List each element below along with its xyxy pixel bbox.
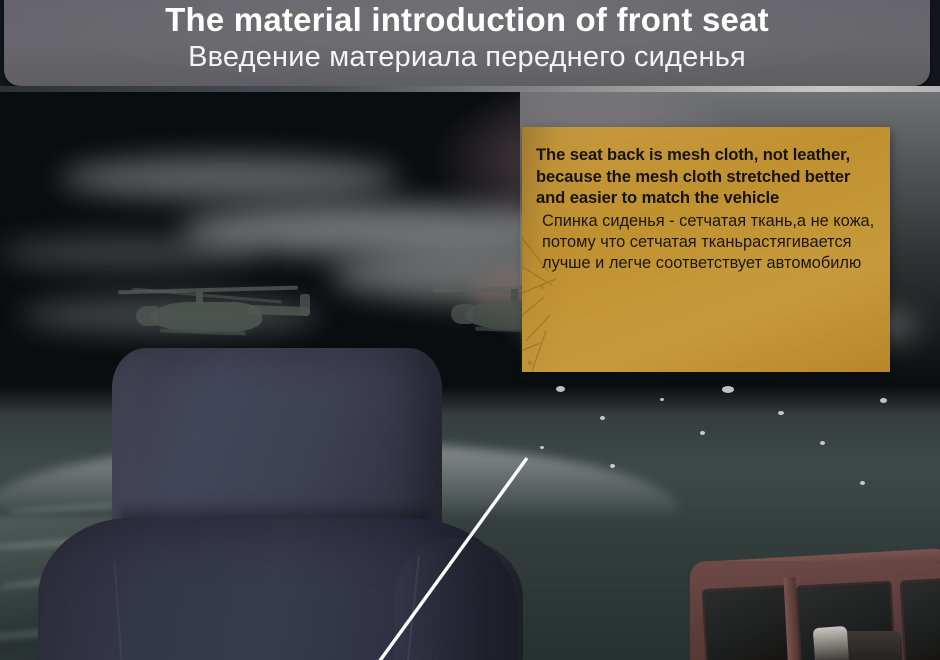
snow-fleck [700,431,705,435]
snow-fleck [660,398,664,401]
snow-fleck [540,446,544,449]
snow-fleck [820,441,825,445]
title-bar: The material introduction of front seat … [4,0,930,86]
callout-text-russian: Спинка сиденья - сетчатая ткань,а не кож… [536,211,880,274]
snow-fleck [778,411,784,415]
snow-fleck [556,386,565,392]
jeep-icon [690,541,940,660]
page-title: The material introduction of front seat [4,1,930,39]
title-banner: The material introduction of front seat … [0,0,940,92]
cloud-streak [0,236,260,270]
snow-fleck [610,464,615,468]
snow-fleck [860,481,865,485]
page-subtitle: Введение материала переднего сиденья [4,41,930,74]
callout-text-english: The seat back is mesh cloth, not leather… [536,144,880,209]
helicopter-icon [150,284,330,344]
snow-fleck [880,398,887,403]
snow-fleck [600,416,605,420]
title-bar-edge [0,86,940,92]
snow-fleck [722,386,734,393]
slide-root: The seat back is mesh cloth, not leather… [0,0,940,660]
cloud-streak [60,156,400,200]
callout-box: The seat back is mesh cloth, not leather… [522,127,890,372]
